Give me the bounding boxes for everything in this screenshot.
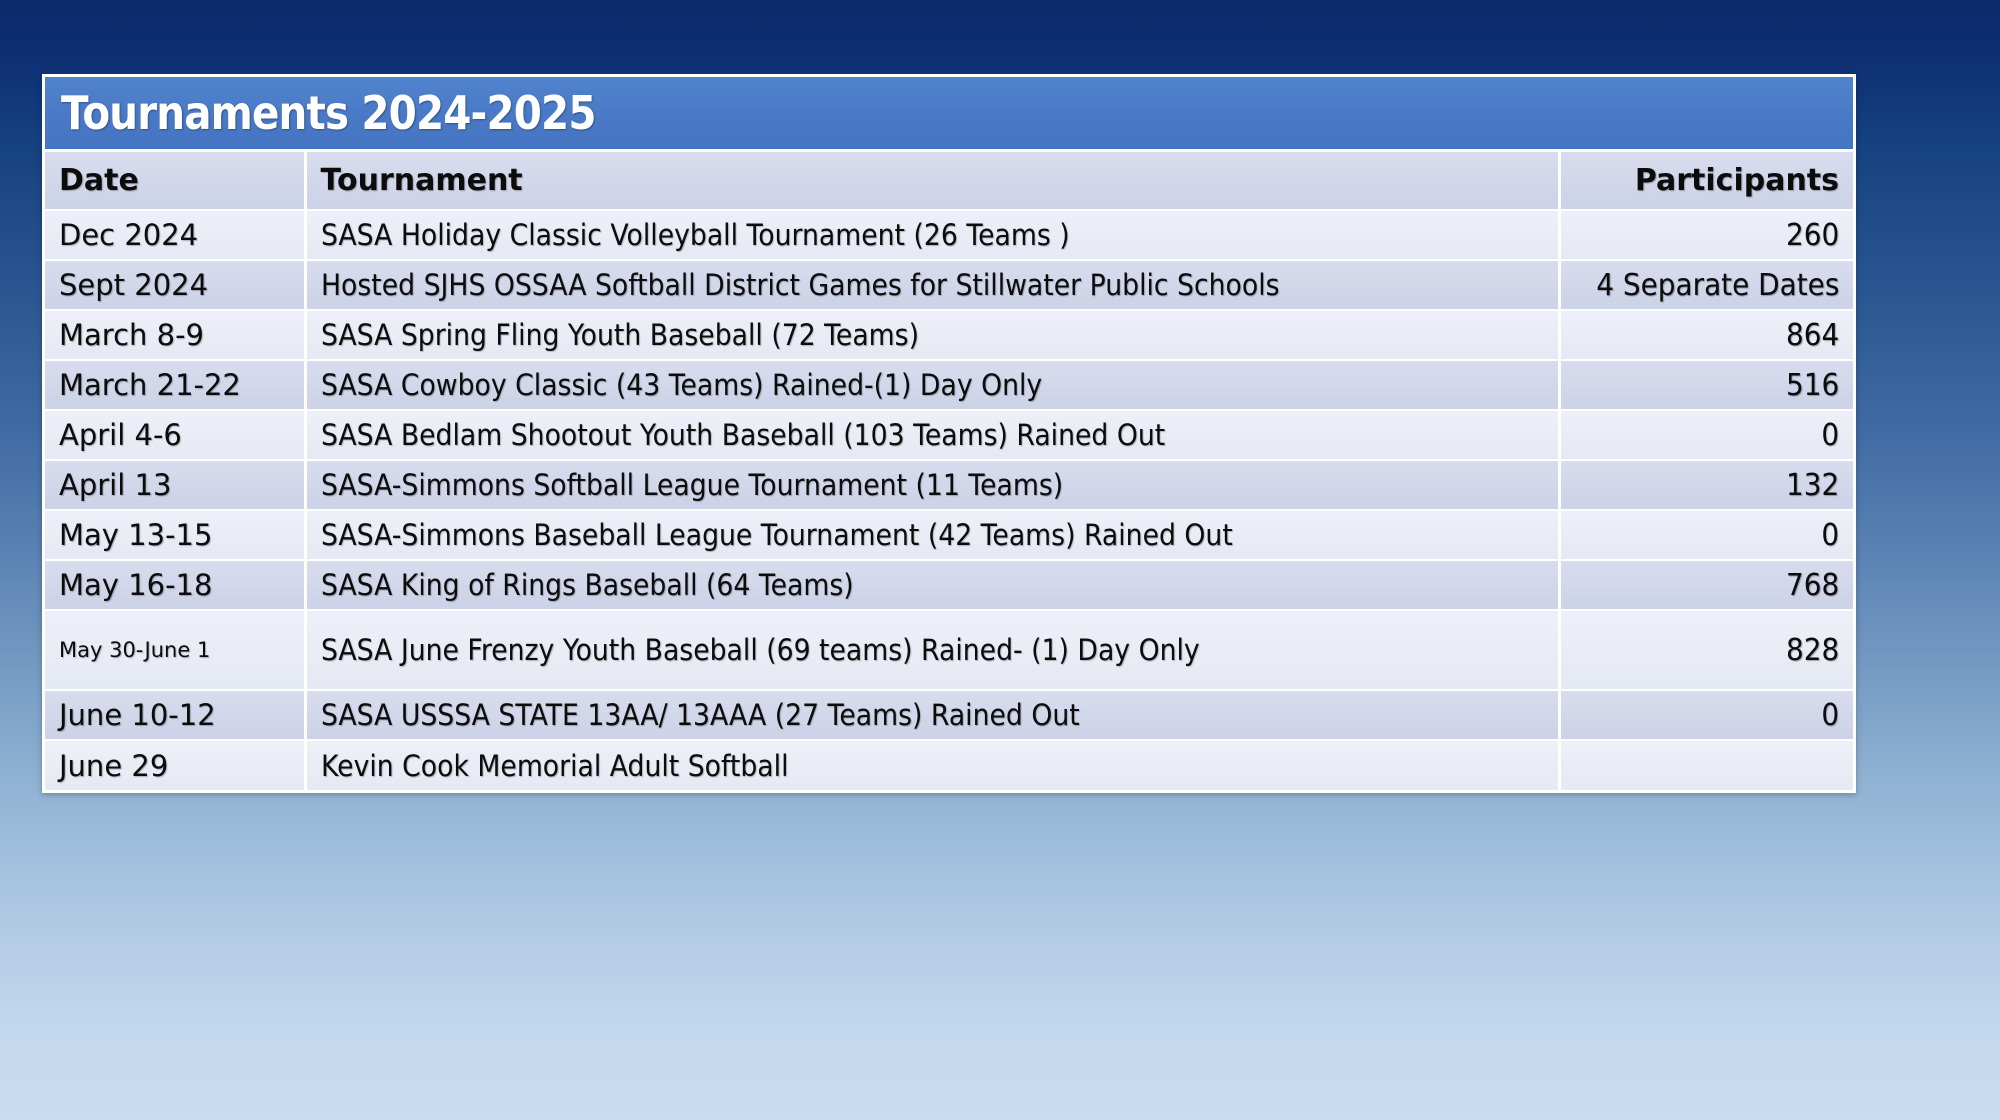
cell-tournament-text: SASA USSSA STATE 13AA/ 13AAA (27 Teams) … xyxy=(321,698,1080,732)
cell-date: June 29 xyxy=(45,740,305,790)
cell-participants: 516 xyxy=(1559,360,1853,410)
cell-participants: 864 xyxy=(1559,310,1853,360)
table-header: Date Tournament Participants xyxy=(45,152,1853,210)
cell-participants-text: 0 xyxy=(1821,698,1839,733)
cell-tournament: SASA June Frenzy Youth Baseball (69 team… xyxy=(305,610,1559,690)
table-row: Sept 2024Hosted SJHS OSSAA Softball Dist… xyxy=(45,260,1853,310)
cell-participants: 768 xyxy=(1559,560,1853,610)
cell-tournament-text: SASA Holiday Classic Volleyball Tourname… xyxy=(321,218,1070,252)
cell-participants: 0 xyxy=(1559,510,1853,560)
table-header-row: Date Tournament Participants xyxy=(45,152,1853,210)
cell-tournament: SASA-Simmons Softball League Tournament … xyxy=(305,460,1559,510)
table-row: Dec 2024SASA Holiday Classic Volleyball … xyxy=(45,210,1853,260)
cell-tournament-text: Kevin Cook Memorial Adult Softball xyxy=(321,749,788,783)
cell-date: April 13 xyxy=(45,460,305,510)
cell-participants: 132 xyxy=(1559,460,1853,510)
table-row: March 8-9SASA Spring Fling Youth Basebal… xyxy=(45,310,1853,360)
cell-participants-text: 132 xyxy=(1786,468,1839,503)
tournaments-table-card: Tournaments 2024-2025 Date Tournament Pa… xyxy=(42,74,1856,793)
cell-date: Dec 2024 xyxy=(45,210,305,260)
cell-date: June 10-12 xyxy=(45,690,305,740)
cell-tournament: Hosted SJHS OSSAA Softball District Game… xyxy=(305,260,1559,310)
cell-participants-text: 864 xyxy=(1786,318,1839,353)
column-header-date: Date xyxy=(45,152,305,210)
cell-tournament-text: SASA Cowboy Classic (43 Teams) Rained-(1… xyxy=(321,368,1042,402)
cell-tournament-text: Hosted SJHS OSSAA Softball District Game… xyxy=(321,268,1280,302)
cell-tournament-text: SASA June Frenzy Youth Baseball (69 team… xyxy=(321,633,1200,667)
cell-date: Sept 2024 xyxy=(45,260,305,310)
cell-tournament: SASA-Simmons Baseball League Tournament … xyxy=(305,510,1559,560)
cell-tournament: SASA Holiday Classic Volleyball Tourname… xyxy=(305,210,1559,260)
cell-participants-text: 0 xyxy=(1821,518,1839,553)
table-row: March 21-22SASA Cowboy Classic (43 Teams… xyxy=(45,360,1853,410)
cell-tournament: SASA Bedlam Shootout Youth Baseball (103… xyxy=(305,410,1559,460)
table-row: April 4-6SASA Bedlam Shootout Youth Base… xyxy=(45,410,1853,460)
table-row: May 30-June 1SASA June Frenzy Youth Base… xyxy=(45,610,1853,690)
table-row: June 10-12SASA USSSA STATE 13AA/ 13AAA (… xyxy=(45,690,1853,740)
cell-participants: 828 xyxy=(1559,610,1853,690)
cell-participants-text: 828 xyxy=(1786,633,1839,668)
table-row: May 16-18SASA King of Rings Baseball (64… xyxy=(45,560,1853,610)
cell-tournament: SASA Cowboy Classic (43 Teams) Rained-(1… xyxy=(305,360,1559,410)
cell-participants-text: 260 xyxy=(1786,218,1839,253)
cell-tournament-text: SASA-Simmons Baseball League Tournament … xyxy=(321,518,1233,552)
cell-participants xyxy=(1559,740,1853,790)
cell-participants: 0 xyxy=(1559,690,1853,740)
table-row: May 13-15SASA-Simmons Baseball League To… xyxy=(45,510,1853,560)
cell-participants-text: 4 Separate Dates xyxy=(1596,268,1839,303)
cell-tournament-text: SASA Bedlam Shootout Youth Baseball (103… xyxy=(321,418,1165,452)
cell-tournament-text: SASA King of Rings Baseball (64 Teams) xyxy=(321,568,854,602)
page-title: Tournaments 2024-2025 xyxy=(61,86,596,140)
table-body: Dec 2024SASA Holiday Classic Volleyball … xyxy=(45,210,1853,790)
table-row: June 29Kevin Cook Memorial Adult Softbal… xyxy=(45,740,1853,790)
column-header-participants: Participants xyxy=(1559,152,1853,210)
table-title-bar: Tournaments 2024-2025 xyxy=(45,77,1853,152)
cell-tournament: SASA Spring Fling Youth Baseball (72 Tea… xyxy=(305,310,1559,360)
cell-tournament-text: SASA Spring Fling Youth Baseball (72 Tea… xyxy=(321,318,919,352)
cell-tournament: SASA King of Rings Baseball (64 Teams) xyxy=(305,560,1559,610)
cell-participants-text: 768 xyxy=(1786,568,1839,603)
cell-tournament: Kevin Cook Memorial Adult Softball xyxy=(305,740,1559,790)
column-header-tournament: Tournament xyxy=(305,152,1559,210)
cell-date: May 16-18 xyxy=(45,560,305,610)
cell-date: April 4-6 xyxy=(45,410,305,460)
cell-tournament-text: SASA-Simmons Softball League Tournament … xyxy=(321,468,1063,502)
cell-date: March 8-9 xyxy=(45,310,305,360)
cell-participants-text: 516 xyxy=(1786,368,1839,403)
cell-date: March 21-22 xyxy=(45,360,305,410)
cell-participants-text: 0 xyxy=(1821,418,1839,453)
cell-date: May 30-June 1 xyxy=(45,610,305,690)
table-row: April 13SASA-Simmons Softball League Tou… xyxy=(45,460,1853,510)
cell-participants: 4 Separate Dates xyxy=(1559,260,1853,310)
tournaments-table: Date Tournament Participants Dec 2024SAS… xyxy=(45,152,1853,790)
slide-canvas: Tournaments 2024-2025 Date Tournament Pa… xyxy=(0,0,2000,1120)
cell-participants: 0 xyxy=(1559,410,1853,460)
cell-tournament: SASA USSSA STATE 13AA/ 13AAA (27 Teams) … xyxy=(305,690,1559,740)
cell-date: May 13-15 xyxy=(45,510,305,560)
cell-participants: 260 xyxy=(1559,210,1853,260)
